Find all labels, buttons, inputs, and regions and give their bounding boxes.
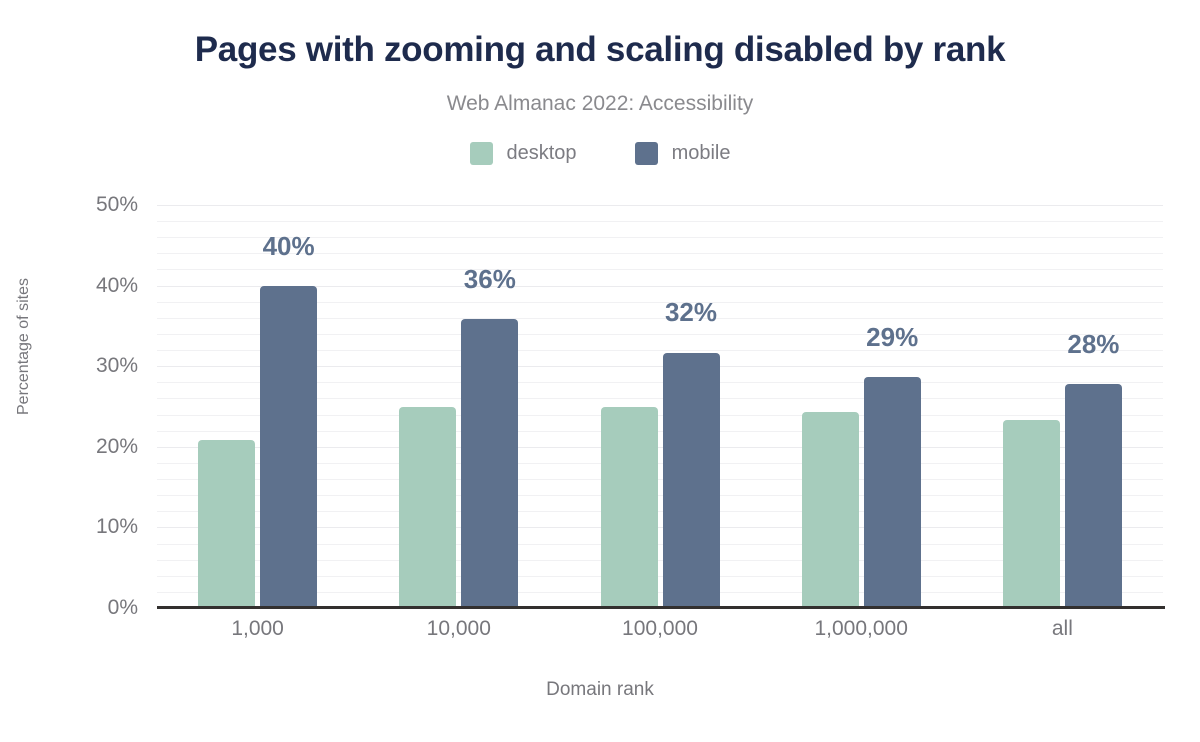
plot-area xyxy=(157,205,1163,608)
x-axis-baseline xyxy=(157,606,1165,609)
bar-series-container xyxy=(157,205,1163,608)
chart-subtitle: Web Almanac 2022: Accessibility xyxy=(0,92,1200,116)
mobile-legend-swatch-icon xyxy=(635,142,658,165)
y-axis-title: Percentage of sites xyxy=(15,278,33,415)
bar-desktop[interactable] xyxy=(1003,420,1060,608)
x-axis-tick-label: 1,000,000 xyxy=(814,617,907,641)
bar-value-label: 29% xyxy=(866,322,918,353)
bar-value-label: 40% xyxy=(263,231,315,262)
legend-label-desktop: desktop xyxy=(507,142,577,165)
legend-label-mobile: mobile xyxy=(672,142,731,165)
y-axis-tick-label: 40% xyxy=(18,274,138,298)
x-axis-title: Domain rank xyxy=(0,679,1200,701)
y-axis-tick-label: 10% xyxy=(18,515,138,539)
desktop-legend-swatch-icon xyxy=(470,142,493,165)
x-axis-tick-label: 1,000 xyxy=(231,617,284,641)
y-axis-tick-label: 50% xyxy=(18,193,138,217)
bar-value-label: 36% xyxy=(464,264,516,295)
bar-value-label: 28% xyxy=(1067,329,1119,360)
bar-value-label: 32% xyxy=(665,297,717,328)
chart-title: Pages with zooming and scaling disabled … xyxy=(0,30,1200,70)
chart-legend: desktop mobile xyxy=(0,142,1200,165)
x-axis-tick-label: 100,000 xyxy=(622,617,698,641)
x-axis-tick-label: 10,000 xyxy=(427,617,491,641)
bar-chart: Pages with zooming and scaling disabled … xyxy=(0,0,1200,742)
y-axis-tick-label: 30% xyxy=(18,354,138,378)
bar-mobile[interactable] xyxy=(1065,384,1122,608)
legend-item-mobile[interactable]: mobile xyxy=(635,142,731,165)
y-axis-tick-label: 20% xyxy=(18,435,138,459)
legend-item-desktop[interactable]: desktop xyxy=(470,142,577,165)
bar-group xyxy=(157,205,1163,608)
y-axis-tick-label: 0% xyxy=(18,596,138,620)
x-axis-tick-label: all xyxy=(1052,617,1073,641)
